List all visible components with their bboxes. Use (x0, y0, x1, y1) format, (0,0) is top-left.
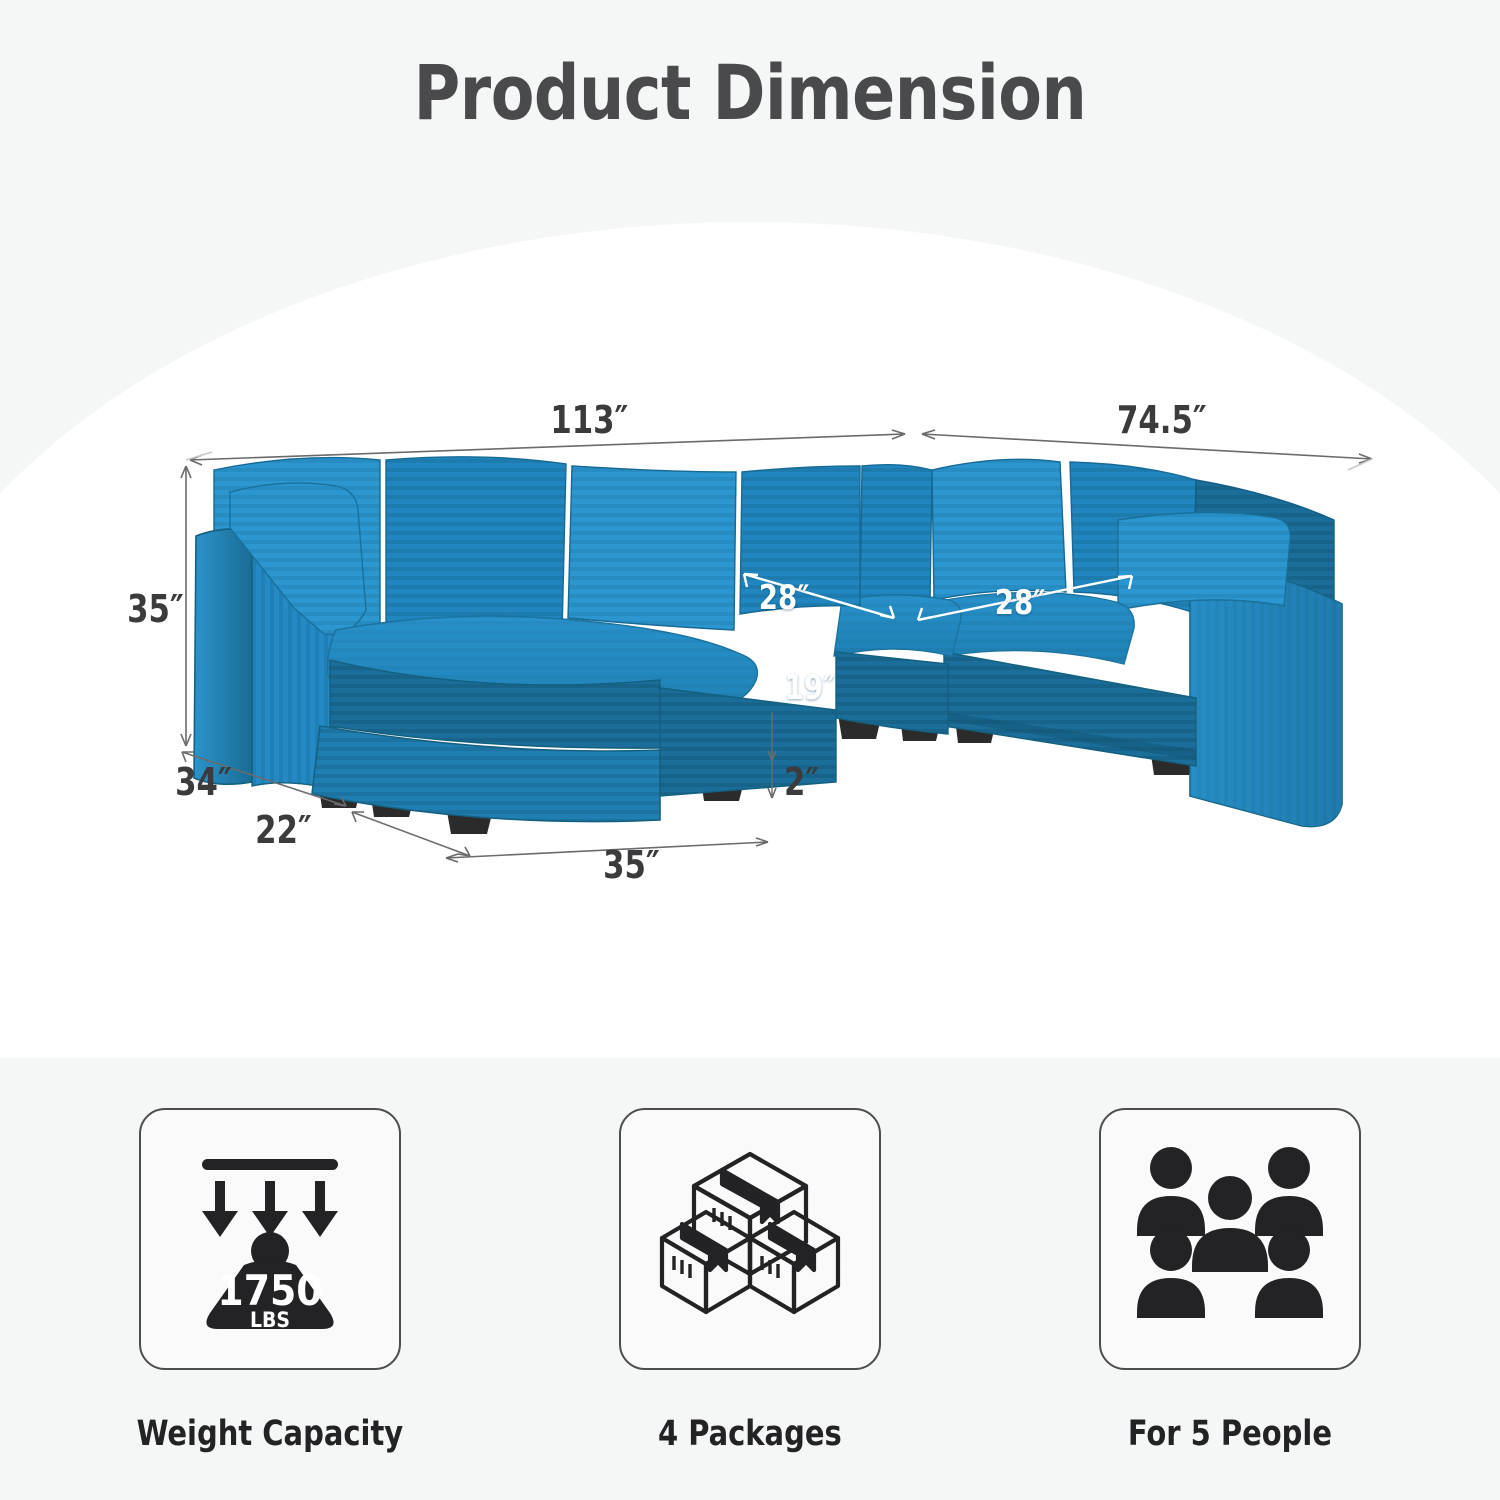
dimension-label-seat-height: 19″ (785, 668, 836, 708)
sofa-left-module (194, 457, 860, 822)
feature-label-weight-capacity: Weight Capacity (137, 1414, 404, 1454)
stacked-boxes-icon (652, 1146, 848, 1332)
feature-highlights: 1750 LBS Weight Capacity (0, 1058, 1500, 1500)
five-people-icon (1135, 1146, 1325, 1332)
product-dimension-hero: Product Dimension (0, 0, 1500, 1058)
feature-label-packages: 4 Packages (658, 1414, 842, 1454)
dimension-label-depth: 34″ (175, 760, 232, 804)
dimension-label-seat-depth-left: 28″ (759, 578, 810, 618)
dimension-label-overall-height: 35″ (127, 587, 184, 631)
feature-seating-capacity: For 5 People (1080, 1108, 1380, 1454)
weight-capacity-card: 1750 LBS (139, 1108, 401, 1370)
sofa-right-module (932, 459, 1342, 826)
dimension-label-chaise-width: 35″ (603, 843, 660, 887)
sofa-diagram (0, 0, 1500, 1058)
dimension-label-arm-depth: 22″ (255, 808, 312, 852)
dimension-label-width-left: 113″ (550, 398, 628, 442)
weight-load-icon: 1750 LBS (172, 1141, 368, 1337)
page-title: Product Dimension (53, 48, 1448, 137)
dimension-label-seat-depth-right: 28″ (995, 583, 1046, 623)
feature-packages: 4 Packages (600, 1108, 900, 1454)
dimension-label-width-right: 74.5″ (1117, 398, 1207, 442)
weight-capacity-unit: LBS (250, 1308, 290, 1332)
seating-capacity-card (1099, 1108, 1361, 1370)
packages-card (619, 1108, 881, 1370)
dimension-label-leg-height: 2″ (784, 760, 819, 804)
feature-weight-capacity: 1750 LBS Weight Capacity (120, 1108, 420, 1454)
feature-label-seating-capacity: For 5 People (1128, 1414, 1332, 1454)
